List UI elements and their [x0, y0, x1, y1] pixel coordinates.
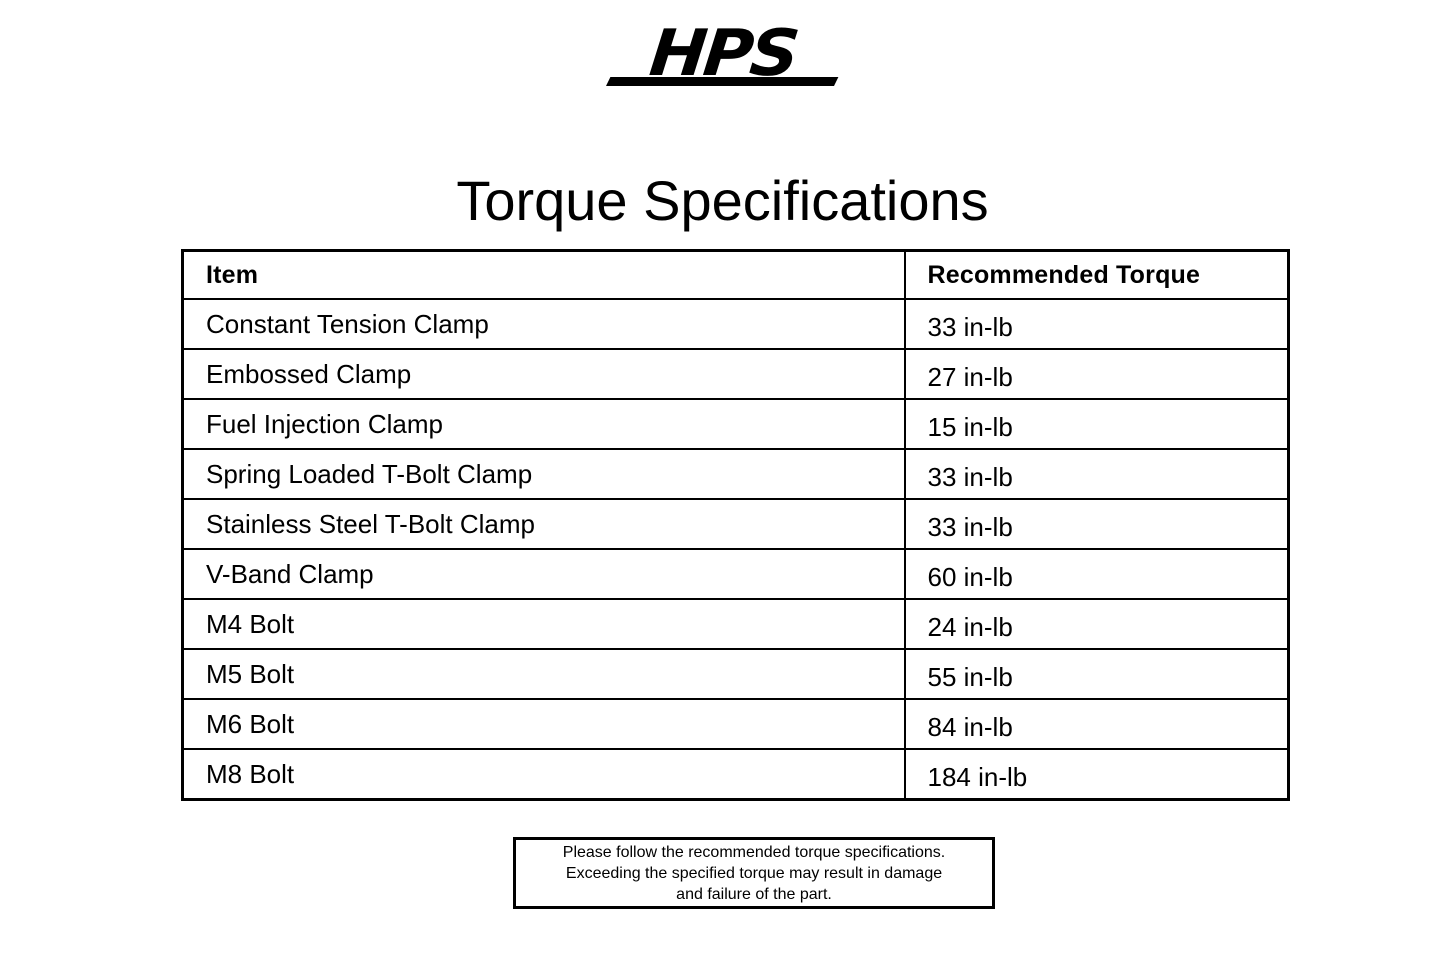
- item-label: Constant Tension Clamp: [184, 309, 904, 340]
- cell-torque: 60 in-lb: [905, 549, 1289, 599]
- table-row: M8 Bolt 184 in-lb: [183, 749, 1289, 800]
- torque-specifications-table: Item Recommended Torque Constant Tension…: [181, 249, 1290, 801]
- torque-value: 84 in-lb: [906, 712, 1288, 743]
- note-line: and failure of the part.: [676, 884, 832, 905]
- column-header-item-label: Item: [184, 261, 904, 290]
- logo-underline-icon: [606, 77, 838, 86]
- cell-torque: 27 in-lb: [905, 349, 1289, 399]
- cell-item: Stainless Steel T-Bolt Clamp: [183, 499, 905, 549]
- note-line: Exceeding the specified torque may resul…: [566, 863, 942, 884]
- table-row: Stainless Steel T-Bolt Clamp 33 in-lb: [183, 499, 1289, 549]
- table-row: M6 Bolt 84 in-lb: [183, 699, 1289, 749]
- cell-torque: 33 in-lb: [905, 449, 1289, 499]
- torque-value: 55 in-lb: [906, 662, 1288, 693]
- page-title: Torque Specifications: [0, 171, 1445, 231]
- cell-item: V-Band Clamp: [183, 549, 905, 599]
- torque-value: 33 in-lb: [906, 312, 1288, 343]
- cell-torque: 84 in-lb: [905, 699, 1289, 749]
- cell-item: M8 Bolt: [183, 749, 905, 800]
- cell-torque: 15 in-lb: [905, 399, 1289, 449]
- cell-item: Constant Tension Clamp: [183, 299, 905, 349]
- cell-torque: 184 in-lb: [905, 749, 1289, 800]
- table-header-row: Item Recommended Torque: [183, 251, 1289, 300]
- item-label: Fuel Injection Clamp: [184, 409, 904, 440]
- cell-torque: 33 in-lb: [905, 299, 1289, 349]
- cell-torque: 55 in-lb: [905, 649, 1289, 699]
- item-label: V-Band Clamp: [184, 559, 904, 590]
- torque-value: 27 in-lb: [906, 362, 1288, 393]
- table-row: Embossed Clamp 27 in-lb: [183, 349, 1289, 399]
- item-label: Stainless Steel T-Bolt Clamp: [184, 509, 904, 540]
- brand-logo: HPS: [0, 28, 1445, 108]
- item-label: M8 Bolt: [184, 759, 904, 790]
- torque-value: 33 in-lb: [906, 512, 1288, 543]
- cell-item: Spring Loaded T-Bolt Clamp: [183, 449, 905, 499]
- column-header-torque: Recommended Torque: [905, 251, 1289, 300]
- table-row: M5 Bolt 55 in-lb: [183, 649, 1289, 699]
- cell-item: Fuel Injection Clamp: [183, 399, 905, 449]
- table-header: Item Recommended Torque: [183, 251, 1289, 300]
- item-label: Embossed Clamp: [184, 359, 904, 390]
- cell-item: Embossed Clamp: [183, 349, 905, 399]
- table-row: Fuel Injection Clamp 15 in-lb: [183, 399, 1289, 449]
- table-row: V-Band Clamp 60 in-lb: [183, 549, 1289, 599]
- cell-item: M5 Bolt: [183, 649, 905, 699]
- torque-value: 184 in-lb: [906, 762, 1288, 793]
- cell-torque: 24 in-lb: [905, 599, 1289, 649]
- cell-torque: 33 in-lb: [905, 499, 1289, 549]
- table-row: Constant Tension Clamp 33 in-lb: [183, 299, 1289, 349]
- column-header-torque-label: Recommended Torque: [906, 261, 1288, 290]
- torque-value: 33 in-lb: [906, 462, 1288, 493]
- torque-value: 15 in-lb: [906, 412, 1288, 443]
- item-label: M4 Bolt: [184, 609, 904, 640]
- note-line: Please follow the recommended torque spe…: [563, 842, 945, 863]
- table-body: Constant Tension Clamp 33 in-lb Embossed…: [183, 299, 1289, 800]
- table-row: Spring Loaded T-Bolt Clamp 33 in-lb: [183, 449, 1289, 499]
- torque-value: 24 in-lb: [906, 612, 1288, 643]
- hps-logo-mark: HPS: [603, 28, 843, 100]
- item-label: M6 Bolt: [184, 709, 904, 740]
- item-label: Spring Loaded T-Bolt Clamp: [184, 459, 904, 490]
- item-label: M5 Bolt: [184, 659, 904, 690]
- column-header-item: Item: [183, 251, 905, 300]
- table-row: M4 Bolt 24 in-lb: [183, 599, 1289, 649]
- cell-item: M6 Bolt: [183, 699, 905, 749]
- cell-item: M4 Bolt: [183, 599, 905, 649]
- warning-note-box: Please follow the recommended torque spe…: [513, 837, 995, 909]
- torque-value: 60 in-lb: [906, 562, 1288, 593]
